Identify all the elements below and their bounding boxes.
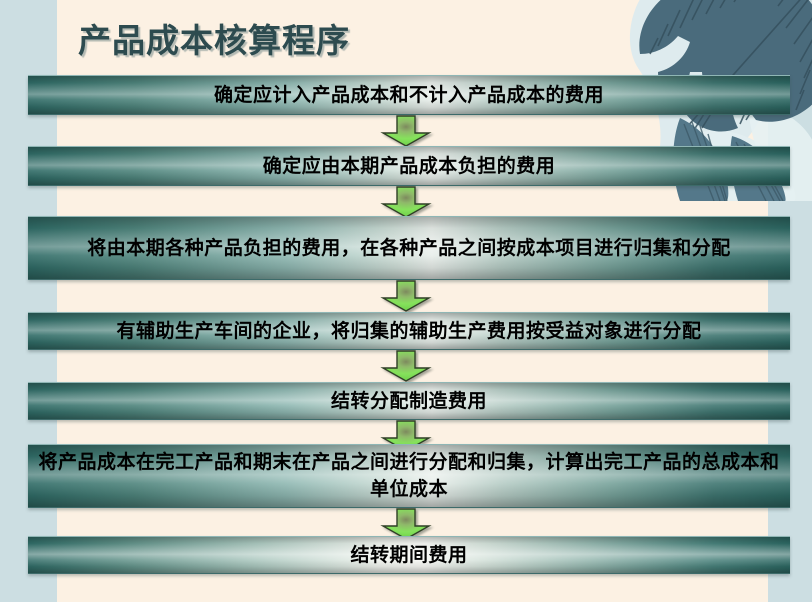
- flow-step-7[interactable]: 结转期间费用: [28, 536, 790, 574]
- arrow-down-icon: [380, 115, 432, 147]
- flow-connector-1: [0, 115, 812, 149]
- flow-step-2[interactable]: 确定应由本期产品成本负担的费用: [28, 146, 790, 186]
- flow-step-1[interactable]: 确定应计入产品成本和不计入产品成本的费用: [28, 75, 790, 115]
- arrow-down-icon: [380, 280, 432, 312]
- arrow-down-icon: [380, 350, 432, 382]
- flow-step-3[interactable]: 将由本期各种产品负担的费用，在各种产品之间按成本项目进行归集和分配: [28, 216, 790, 280]
- flow-step-5[interactable]: 结转分配制造费用: [28, 382, 790, 420]
- arrow-down-icon: [380, 186, 432, 218]
- flow-connector-2: [0, 186, 812, 220]
- flow-step-6[interactable]: 将产品成本在完工产品和期末在产品之间进行分配和归集，计算出完工产品的总成本和单位…: [28, 444, 790, 508]
- flow-connector-4: [0, 350, 812, 384]
- flowchart: 确定应计入产品成本和不计入产品成本的费用 确定应由本期产品成本负担的费用: [0, 0, 812, 602]
- flow-step-4[interactable]: 有辅助生产车间的企业，将归集的辅助生产费用按受益对象进行分配: [28, 312, 790, 350]
- slide-canvas: 产品成本核算程序 确定应计入产品成本和不计入产品成本的费用 确定应由本期产品成本…: [0, 0, 812, 602]
- flow-connector-3: [0, 280, 812, 314]
